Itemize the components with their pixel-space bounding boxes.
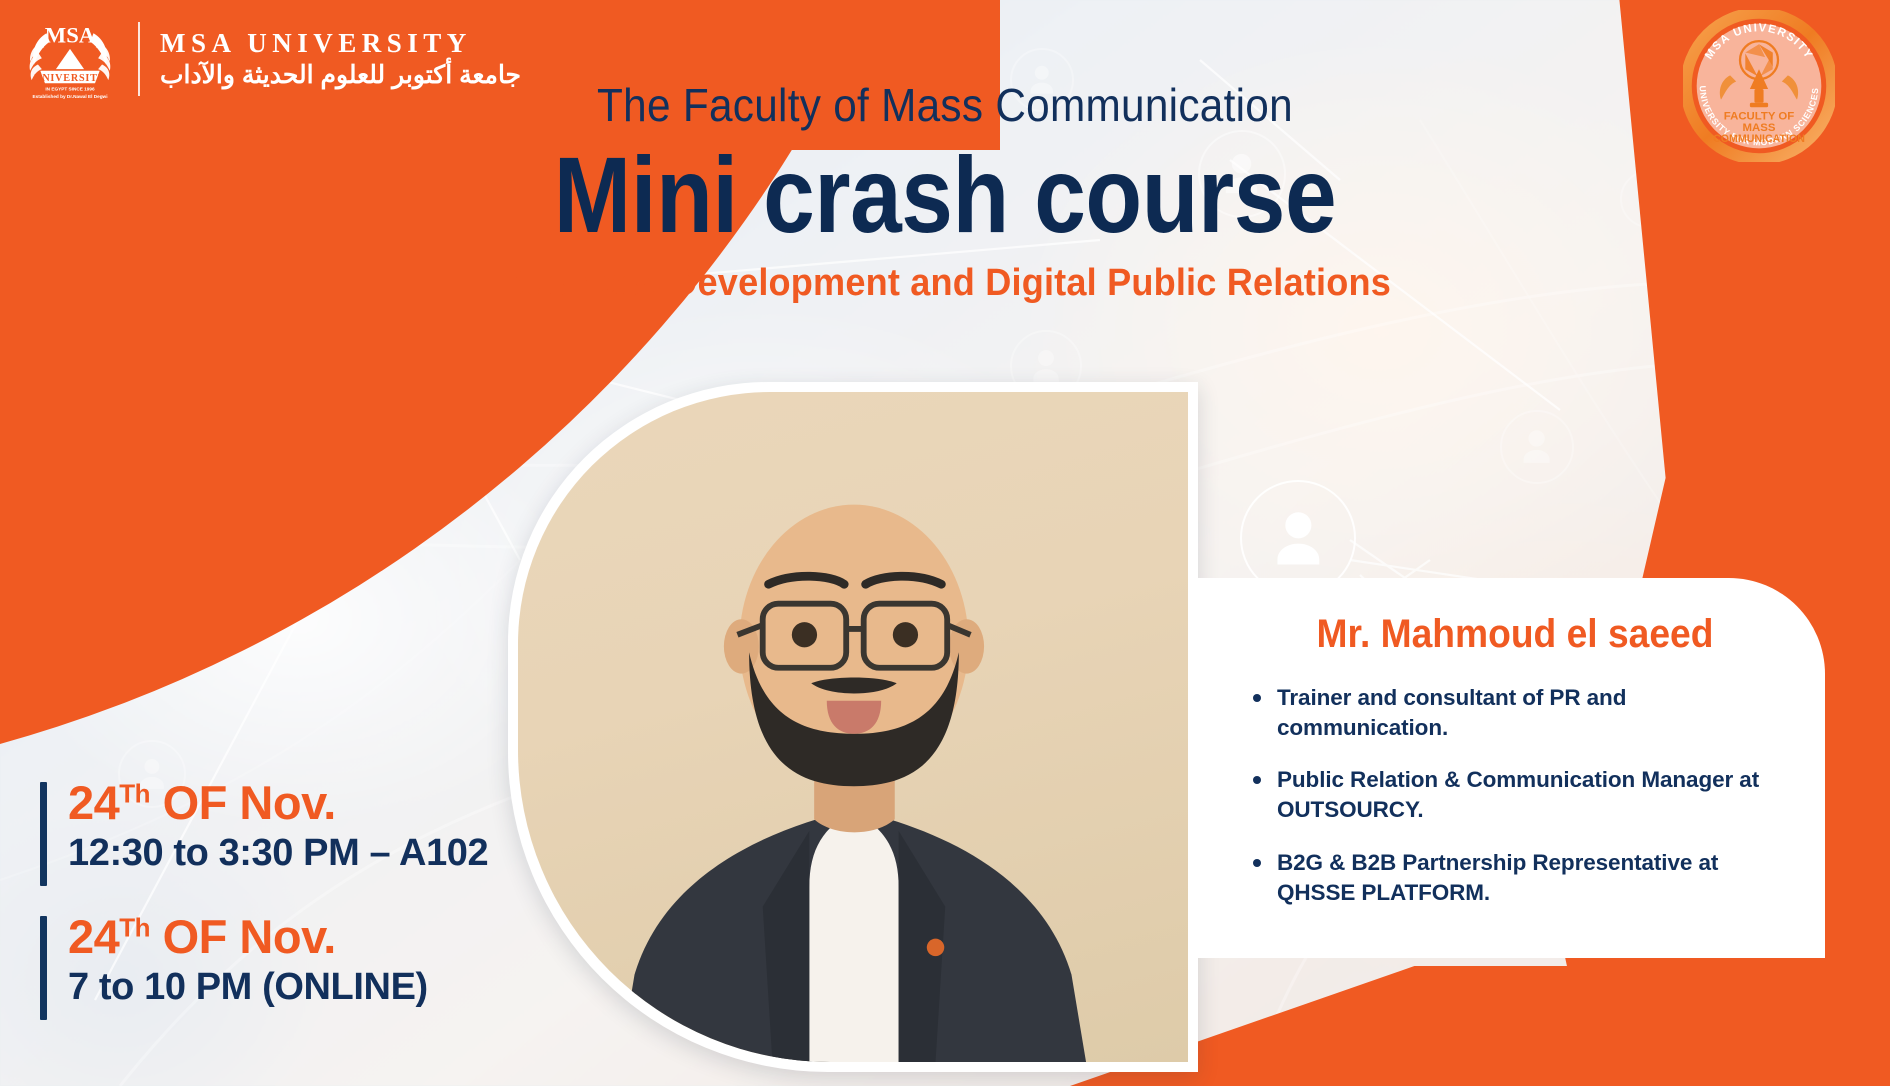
speaker-credentials-list: Trainer and consultant of PR and communi… <box>1249 683 1781 908</box>
session-date-number: 24 <box>68 776 119 829</box>
session-schedule: 24Th OF Nov. 12:30 to 3:30 PM – A102 24T… <box>40 778 488 1047</box>
session-block-1: 24Th OF Nov. 12:30 to 3:30 PM – A102 <box>40 778 488 876</box>
session-date-number: 24 <box>68 910 119 963</box>
session-date-ordinal: Th <box>119 913 150 943</box>
session-accent-bar <box>40 916 47 1020</box>
title-block: The Faculty of Mass Communication Mini c… <box>0 78 1890 305</box>
list-item: B2G & B2B Partnership Representative at … <box>1249 848 1781 908</box>
faculty-of-mass-communication-badge: MSA UNIVERSITY OCTOBER UNIVERSITY FOR MO… <box>1683 10 1835 162</box>
poster-canvas: MSA UNIVERSITY IN EGYPT SINCE 1996 Estab… <box>0 0 1890 1086</box>
svg-text:FACULTY OF: FACULTY OF <box>1724 110 1794 122</box>
session-details-2: 7 to 10 PM (ONLINE) <box>68 965 488 1011</box>
session-accent-bar <box>40 782 47 886</box>
page-title: Mini crash course <box>132 138 1757 252</box>
list-item: Public Relation & Communication Manager … <box>1249 765 1781 825</box>
session-block-2: 24Th OF Nov. 7 to 10 PM (ONLINE) <box>40 912 488 1010</box>
speaker-info-card: Mr. Mahmoud el saeed Trainer and consult… <box>1195 578 1825 958</box>
svg-text:Established by Dr.Nawal El Deg: Established by Dr.Nawal El Degwi <box>32 94 107 99</box>
speaker-photo <box>518 392 1188 1062</box>
msa-university-logo: MSA UNIVERSITY IN EGYPT SINCE 1996 Estab… <box>22 16 521 102</box>
logo-arabic-name: جامعة أكتوبر للعلوم الحديثة والآداب <box>160 63 521 88</box>
svg-text:MASS: MASS <box>1743 122 1776 134</box>
msa-crest-icon: MSA UNIVERSITY IN EGYPT SINCE 1996 Estab… <box>22 16 118 102</box>
speaker-photo-frame <box>508 382 1198 1072</box>
session-date-2: 24Th OF Nov. <box>68 912 488 963</box>
svg-text:MSA: MSA <box>45 23 96 48</box>
session-date-ordinal: Th <box>119 778 150 808</box>
logo-wordmark: MSA UNIVERSITY جامعة أكتوبر للعلوم الحدي… <box>160 30 521 88</box>
person-node-icon <box>1500 410 1574 484</box>
course-subtitle: Business Development and Digital Public … <box>47 262 1843 305</box>
speaker-portrait-illustration <box>518 392 1188 1062</box>
session-date-1: 24Th OF Nov. <box>68 778 488 829</box>
logo-divider <box>138 22 140 96</box>
session-details-1: 12:30 to 3:30 PM – A102 <box>68 831 488 877</box>
svg-text:UNIVERSITY: UNIVERSITY <box>34 73 106 84</box>
list-item: Trainer and consultant of PR and communi… <box>1249 683 1781 743</box>
speaker-name: Mr. Mahmoud el saeed <box>1268 612 1763 657</box>
svg-text:COMMUNICATION: COMMUNICATION <box>1713 133 1805 145</box>
session-date-rest: OF Nov. <box>150 776 336 829</box>
svg-text:IN EGYPT SINCE 1996: IN EGYPT SINCE 1996 <box>45 86 95 91</box>
session-date-rest: OF Nov. <box>150 910 336 963</box>
logo-english-name: MSA UNIVERSITY <box>160 30 521 57</box>
